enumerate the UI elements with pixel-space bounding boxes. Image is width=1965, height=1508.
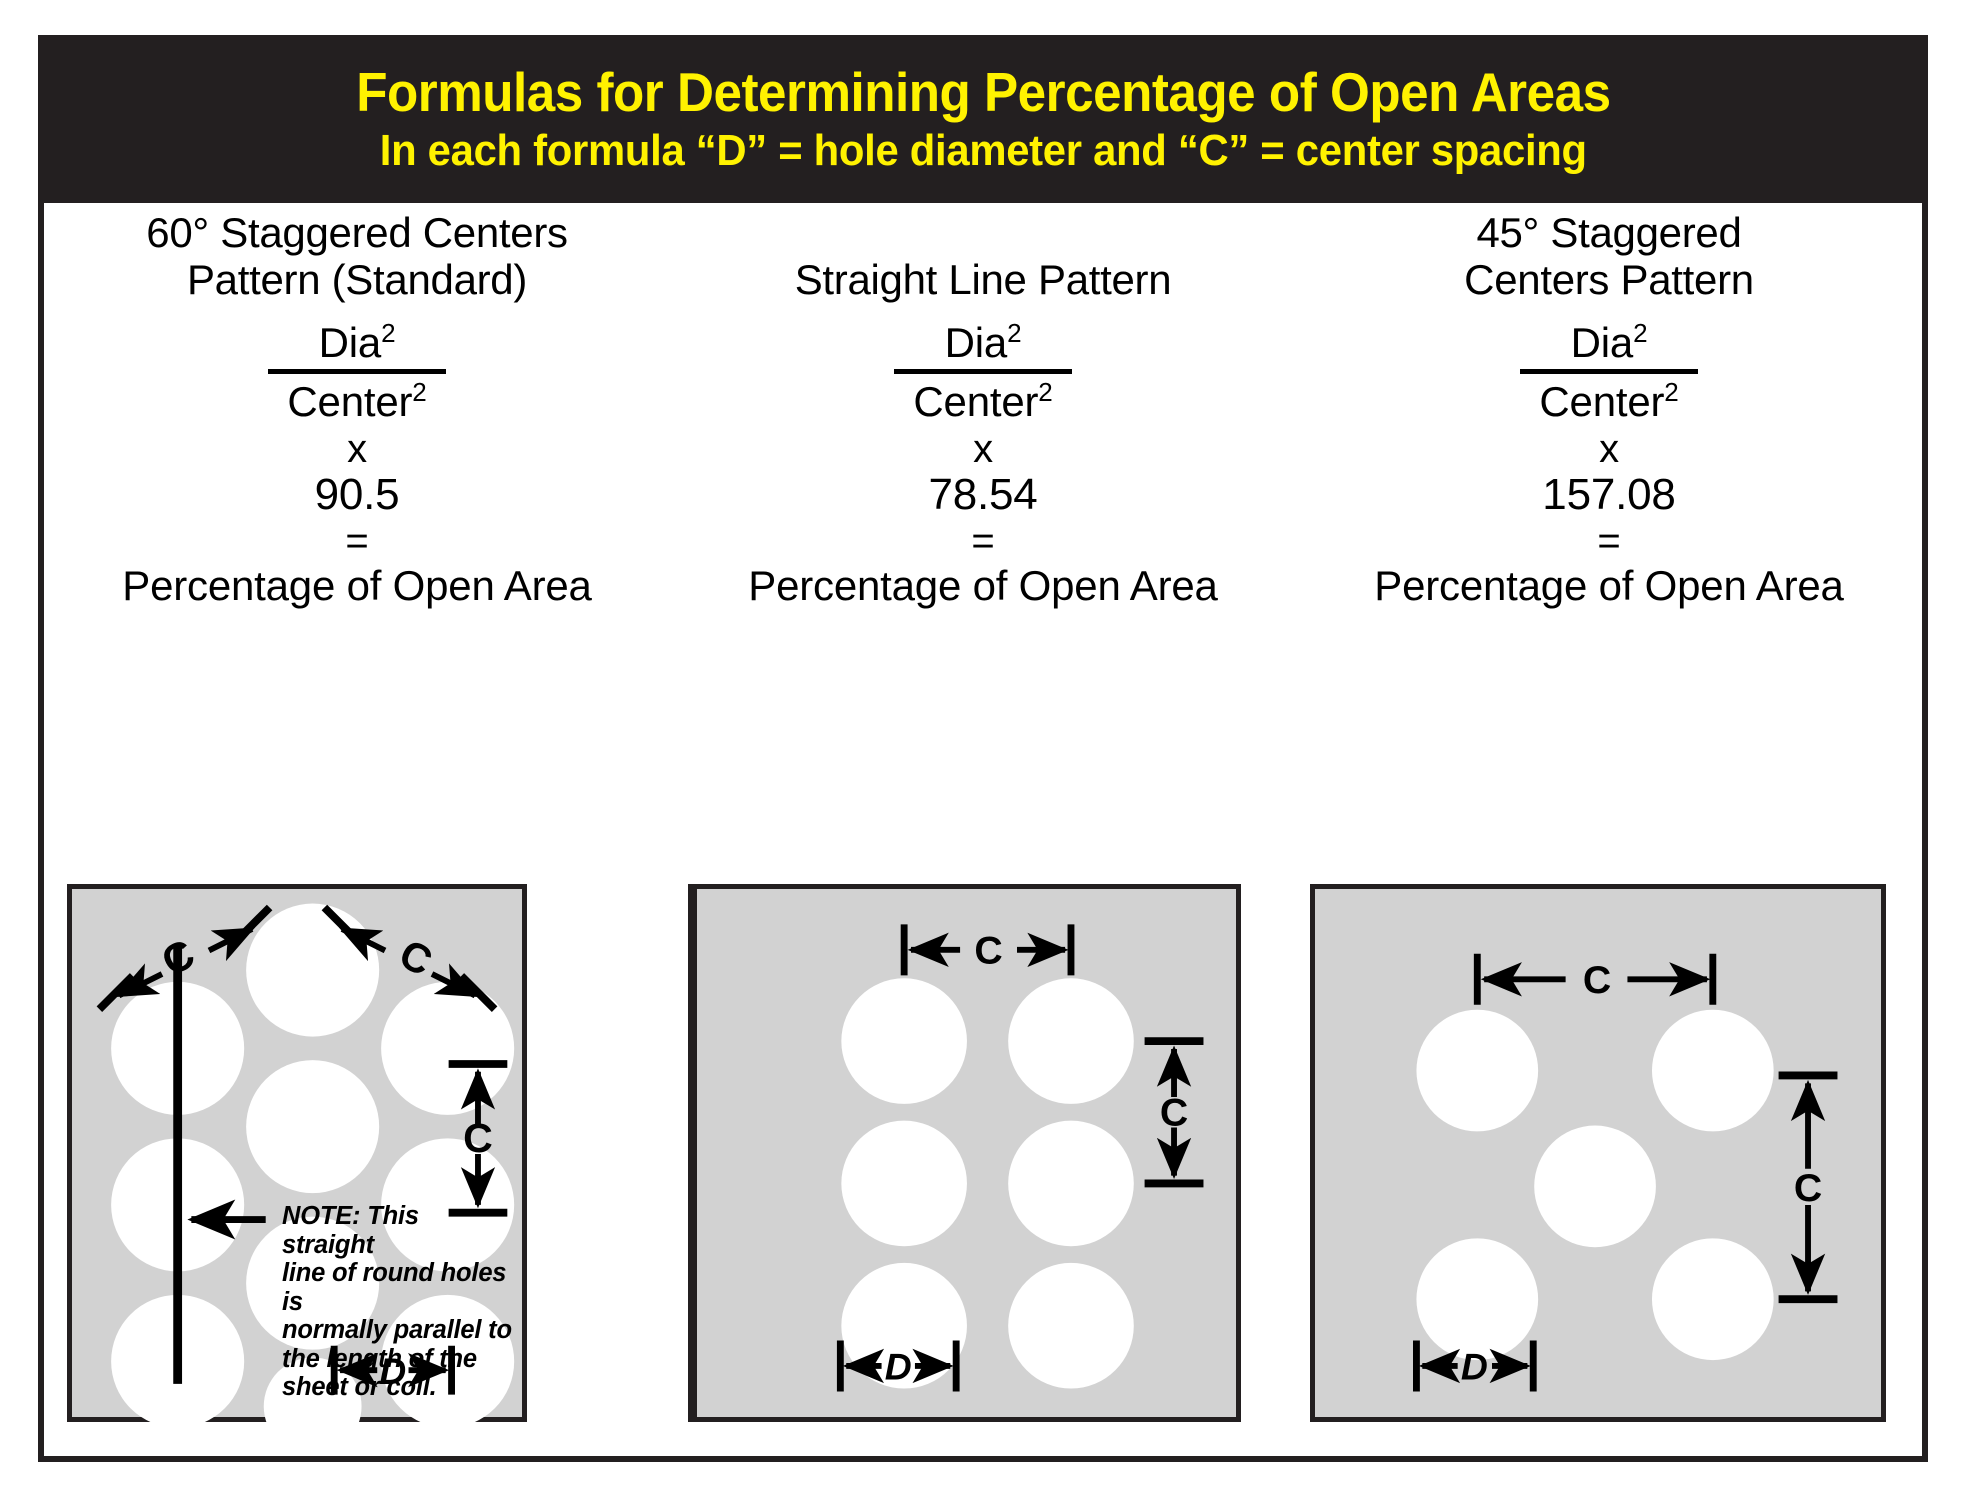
diagram-sheet: Formulas for Determining Percentage of O… — [0, 0, 1965, 1508]
fraction-numerator: Dia2 — [313, 321, 402, 369]
column-45-degree-staggered: 45° Staggered Centers Pattern Dia2 Cente… — [1296, 203, 1922, 1456]
formula-multiplier: 90.5 — [315, 472, 400, 518]
horizontal-dimension-top-label: C — [974, 929, 1002, 973]
formula-result: Percentage of Open Area — [1374, 564, 1843, 608]
note-text: NOTE: This straight line of round holes … — [282, 1202, 512, 1402]
formula-operator: x — [1599, 428, 1619, 470]
fraction-denominator: Center2 — [281, 374, 432, 424]
dimension-annotations-panel-3: C C — [1315, 889, 1881, 1417]
page-title: Formulas for Determining Percentage of O… — [356, 63, 1610, 122]
formula-operator: x — [973, 428, 993, 470]
fraction-numerator: Dia2 — [939, 321, 1028, 369]
formula-multiplier: 78.54 — [928, 472, 1037, 518]
fraction: Dia2 Center2 — [1520, 321, 1698, 424]
fraction-denominator: Center2 — [1533, 374, 1684, 424]
column-60-degree-staggered: 60° Staggered Centers Pattern (Standard)… — [44, 203, 670, 1456]
fraction-denominator: Center2 — [907, 374, 1058, 424]
formula-equals: = — [345, 520, 368, 562]
column-title-line: Centers Pattern — [1464, 256, 1754, 303]
horizontal-dimension-bottom-label: D — [1461, 1346, 1488, 1388]
formula-block: Dia2 Center2 x 78.54 = Percentage of Ope… — [748, 321, 1217, 608]
column-title-line: Pattern (Standard) — [146, 256, 567, 303]
formula-multiplier: 157.08 — [1542, 472, 1675, 518]
fraction: Dia2 Center2 — [894, 321, 1072, 424]
column-title-line: 60° Staggered Centers — [146, 209, 567, 256]
column-title: 60° Staggered Centers Pattern (Standard) — [146, 209, 567, 303]
pattern-panel: C C — [67, 884, 527, 1422]
formula-block: Dia2 Center2 x 157.08 = Percentage of Op… — [1374, 321, 1843, 608]
formula-equals: = — [1597, 520, 1620, 562]
fraction-numerator: Dia2 — [1565, 321, 1654, 369]
diagram-60-degree-staggered: C C — [67, 884, 527, 1422]
formula-block: Dia2 Center2 x 90.5 = Percentage of Open… — [122, 321, 591, 608]
diagram-straight-line: C C — [688, 884, 1241, 1422]
fraction: Dia2 Center2 — [268, 321, 446, 424]
page-subtitle: In each formula “D” = hole diameter and … — [379, 126, 1586, 175]
dimension-annotations-panel-2: C C — [693, 889, 1236, 1417]
vertical-dimension-label: C — [1160, 1091, 1188, 1135]
column-title: 45° Staggered Centers Pattern — [1464, 209, 1754, 303]
diagram-45-degree-staggered: C C — [1310, 884, 1886, 1422]
formula-result: Percentage of Open Area — [748, 564, 1217, 608]
pattern-columns: 60° Staggered Centers Pattern (Standard)… — [44, 203, 1922, 1456]
formula-result: Percentage of Open Area — [122, 564, 591, 608]
column-title-line: 45° Staggered — [1464, 209, 1754, 256]
vertical-dimension-label: C — [463, 1115, 493, 1161]
pattern-panel: C C — [1310, 884, 1886, 1422]
header-band: Formulas for Determining Percentage of O… — [38, 35, 1928, 203]
horizontal-dimension-top-label: C — [1583, 958, 1611, 1002]
horizontal-dimension-bottom-label: D — [885, 1346, 912, 1388]
column-title-line: Straight Line Pattern — [795, 256, 1172, 303]
column-straight-line: Straight Line Pattern Dia2 Center2 x 78.… — [670, 203, 1296, 1456]
formula-equals: = — [971, 520, 994, 562]
formula-operator: x — [347, 428, 367, 470]
column-title: Straight Line Pattern — [795, 256, 1172, 303]
vertical-dimension-label: C — [1794, 1166, 1822, 1210]
pattern-panel: C C — [688, 884, 1241, 1422]
